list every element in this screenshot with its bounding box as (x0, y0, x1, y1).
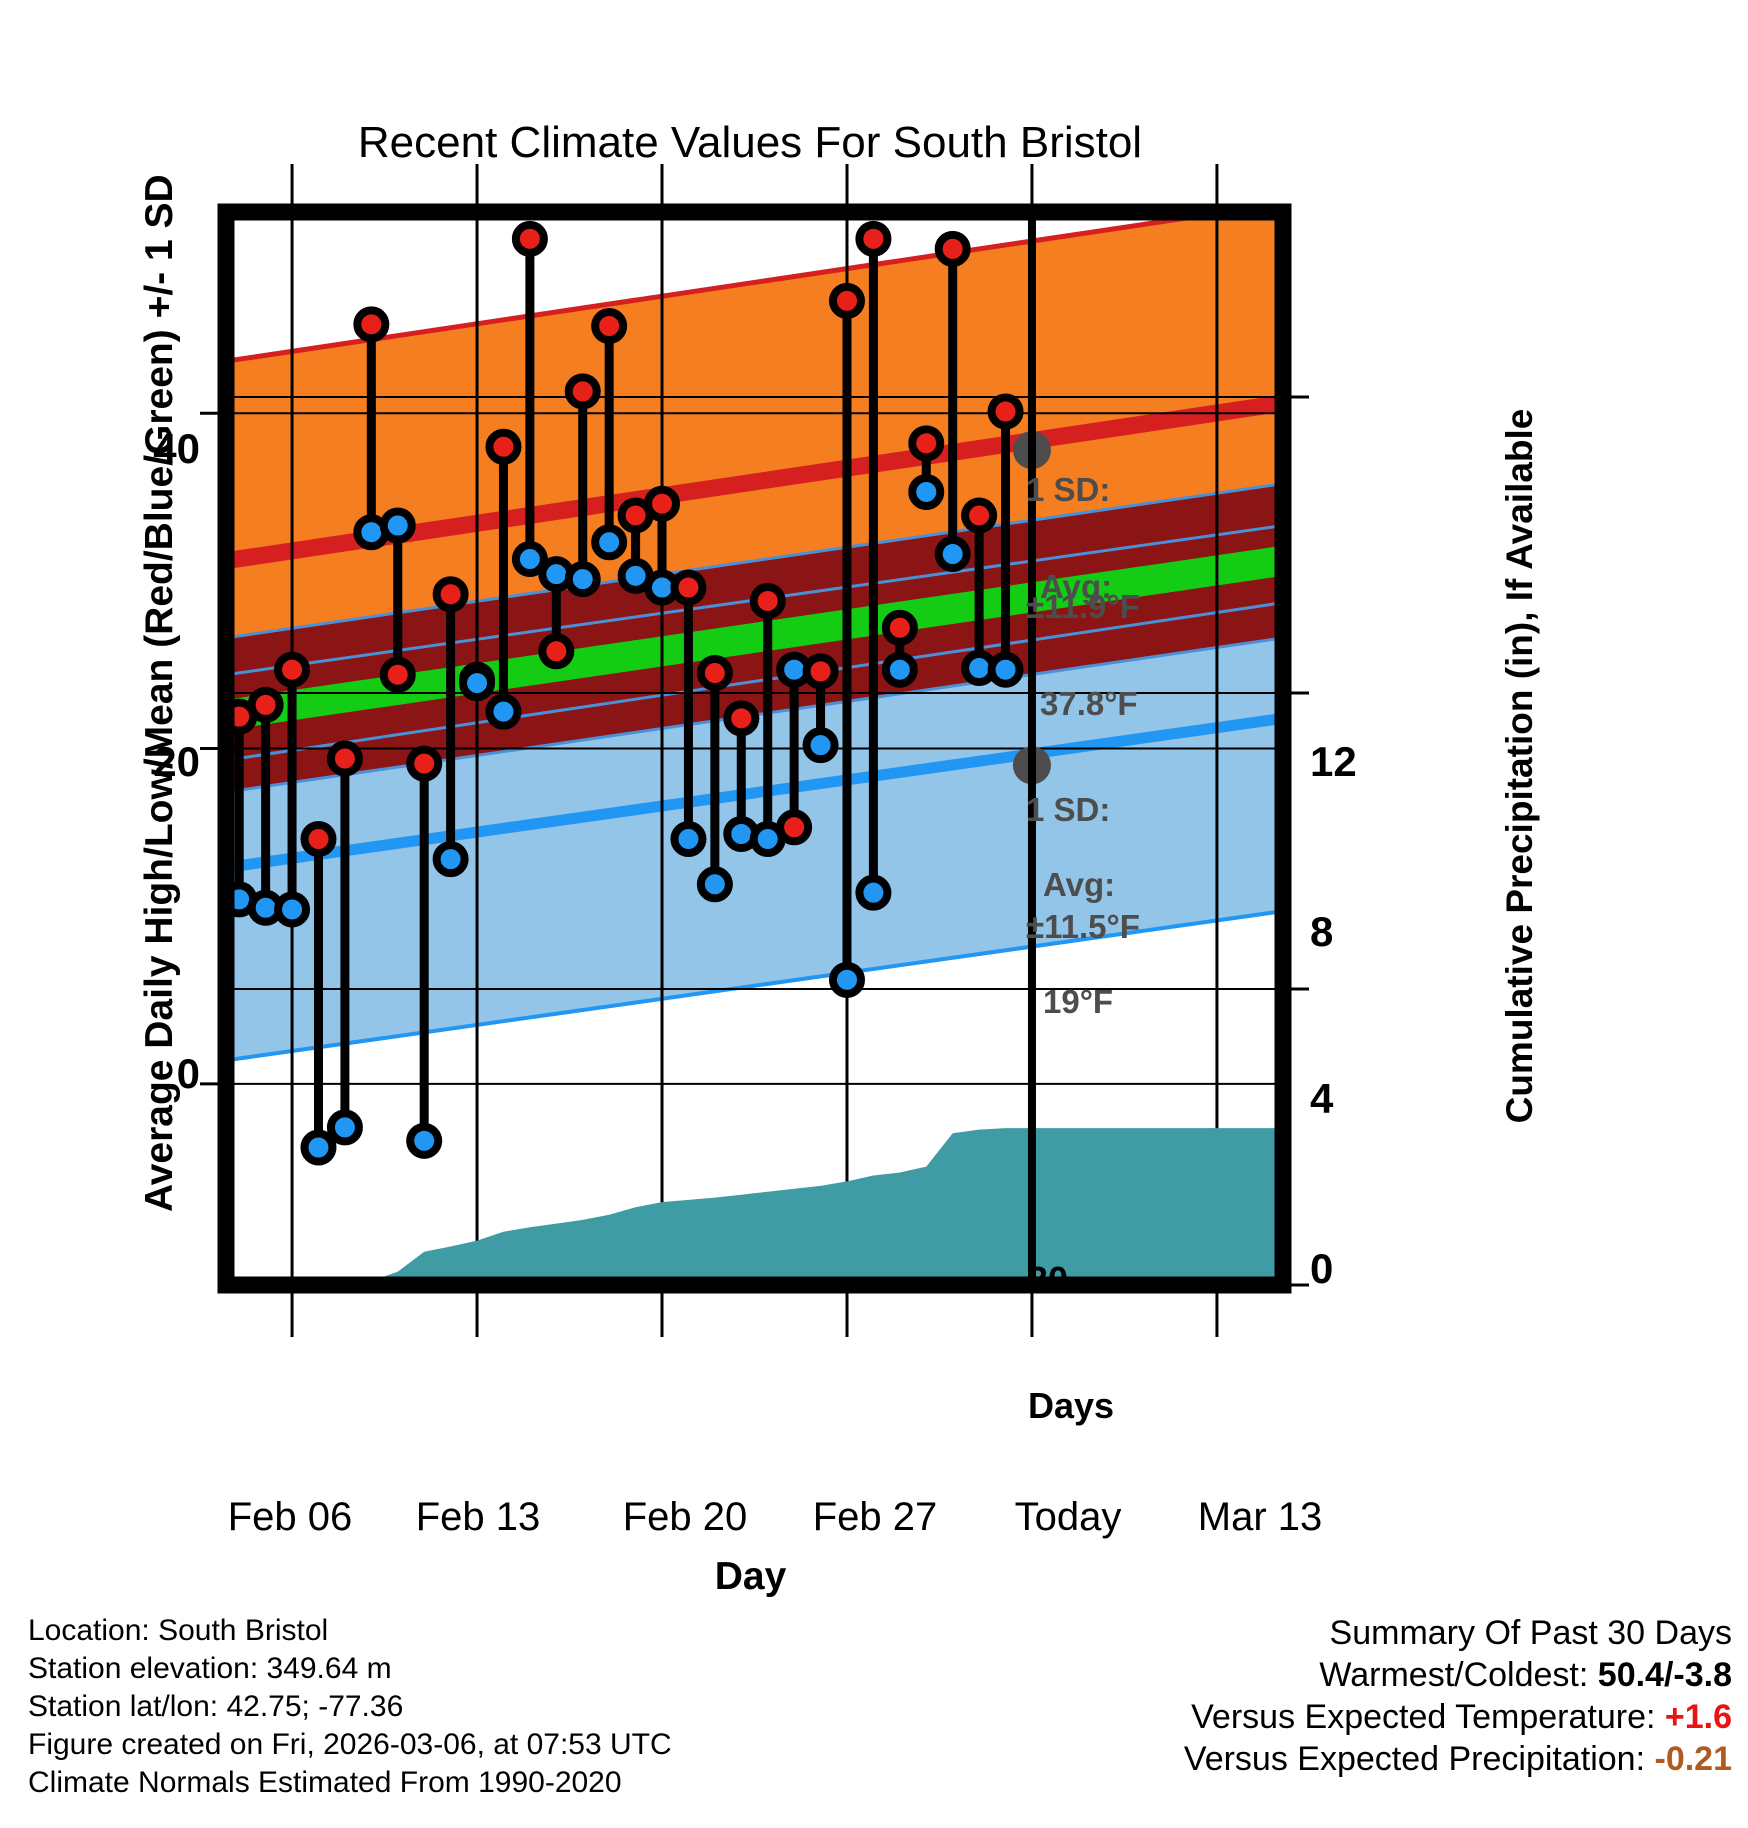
climate-figure: Recent Climate Values For South Bristol … (0, 0, 1748, 1828)
station-info-created: Figure created on Fri, 2026-03-06, at 07… (28, 1726, 672, 1764)
summary-panel: Summary Of Past 30 Days Warmest/Coldest:… (1184, 1612, 1732, 1780)
summary-row-temperature: Versus Expected Temperature: +1.6 (1184, 1696, 1732, 1738)
station-info: Location: South Bristol Station elevatio… (28, 1612, 672, 1802)
low-avg-label: Avg: (1043, 865, 1115, 904)
precip-window-days: 30 (1028, 1259, 1114, 1301)
station-info-latlon: Station lat/lon: 42.75; -77.36 (28, 1688, 672, 1726)
summary-value-temperature: +1.6 (1665, 1698, 1732, 1736)
summary-row-warmest: Warmest/Coldest: 50.4/-3.8 (1184, 1654, 1732, 1696)
summary-value-warmest: 50.4/-3.8 (1598, 1656, 1732, 1694)
summary-value-precipitation: -0.21 (1655, 1740, 1733, 1778)
summary-label-warmest: Warmest/Coldest: (1319, 1656, 1588, 1694)
summary-row-precipitation: Versus Expected Precipitation: -0.21 (1184, 1738, 1732, 1780)
summary-label-precipitation: Versus Expected Precipitation: (1184, 1740, 1645, 1778)
summary-label-temperature: Versus Expected Temperature: (1191, 1698, 1655, 1736)
station-info-elevation: Station elevation: 349.64 m (28, 1650, 672, 1688)
station-info-normals: Climate Normals Estimated From 1990-2020 (28, 1764, 672, 1802)
low-avg-annotation: Avg: 19°F (1043, 787, 1115, 1099)
low-avg-value: 19°F (1043, 982, 1115, 1021)
precip-window-annotation: 30 Days (1028, 1175, 1114, 1511)
high-avg-label: Avg: (1040, 567, 1138, 606)
summary-heading: Summary Of Past 30 Days (1184, 1612, 1732, 1654)
station-info-location: Location: South Bristol (28, 1612, 672, 1650)
climate-plot (0, 0, 1748, 1828)
precip-window-unit: Days (1028, 1385, 1114, 1427)
